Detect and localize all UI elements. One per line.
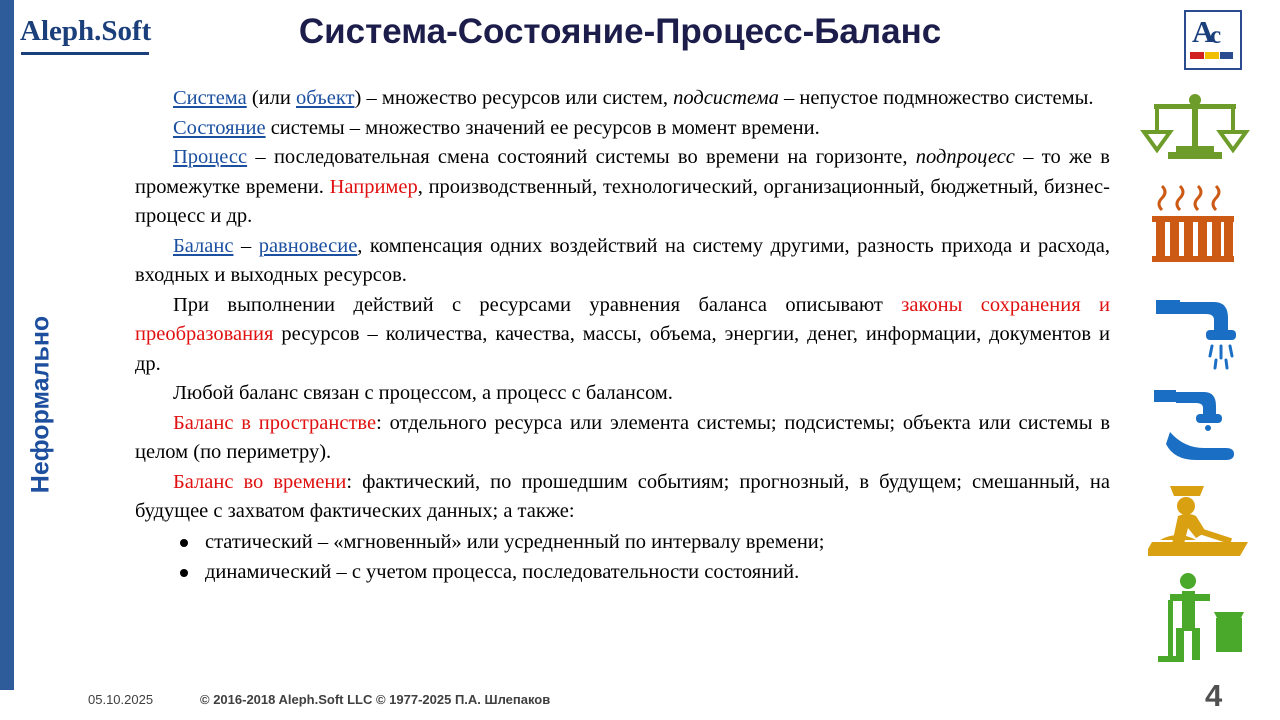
text-run: При выполнении действий с ресурсами урав… [173,294,901,316]
p-sistema: Система (или объект) – множество ресурсо… [135,84,1110,114]
slide-body: Система (или объект) – множество ресурсо… [135,84,1110,587]
list-item-label: статический – «мгновенный» или усредненн… [205,531,824,553]
page-number: 4 [1205,678,1222,714]
text-run: ресурсов – количества, качества, массы, … [135,323,1110,375]
footer-copyright: © 2016-2018 Aleph.Soft LLC © 1977-2025 П… [200,692,550,707]
inline-link[interactable]: Состояние [173,117,266,139]
badge-stripe-blue [1220,52,1233,59]
faucet-hand-icon [1146,384,1251,462]
side-label: Неформально [27,290,56,520]
faucet-water-icon [1146,292,1251,374]
text-run: – непустое подмножество системы. [779,87,1094,109]
radiator-icon [1146,184,1246,264]
list-item-label: динамический – с учетом процесса, послед… [205,561,799,583]
bullet-dot-icon [180,569,188,577]
list-item: статический – «мгновенный» или усредненн… [135,527,1110,557]
p-balans: Баланс – равновесие, компенсация одних в… [135,232,1110,291]
p-lyuboy: Любой баланс связан с процессом, а проце… [135,379,1110,409]
inline-link[interactable]: объект [296,87,355,109]
text-run: подсистема [673,87,779,109]
badge-stripe-red [1190,52,1204,59]
p-prostranstvo: Баланс в пространстве: отдельного ресурс… [135,409,1110,468]
p-zakony: При выполнении действий с ресурсами урав… [135,291,1110,380]
p-process: Процесс – последовательная смена состоян… [135,143,1110,232]
p-sostoyanie: Состояние системы – множество значений е… [135,114,1110,144]
text-run: (или [247,87,296,109]
text-run: Баланс в пространстве [173,412,376,434]
footer-date: 05.10.2025 [88,692,153,707]
badge-stripe-yellow [1205,52,1219,59]
text-run: Баланс во времени [173,471,346,493]
person-recycling-icon [1152,572,1252,664]
inline-link[interactable]: Система [173,87,247,109]
slide: Aleph.Soft Система-Состояние-Процесс-Бал… [0,0,1280,720]
text-run: Например [330,176,418,198]
badge-letter-c: c [1210,22,1221,50]
bullet-dot-icon [180,539,188,547]
p-vremya: Баланс во времени: фактический, по проше… [135,468,1110,527]
text-run: Любой баланс связан с процессом, а проце… [173,382,673,404]
bullet-list: статический – «мгновенный» или усредненн… [135,527,1110,587]
text-run: – последовательная смена состояний систе… [247,146,916,168]
page-title: Система-Состояние-Процесс-Баланс [170,12,1070,52]
left-accent-bar [0,0,14,690]
text-run: подпроцесс [916,146,1015,168]
paragraph-list: Система (или объект) – множество ресурсо… [135,84,1110,527]
inline-link[interactable]: Баланс [173,235,233,257]
logo-text: Aleph.Soft [20,14,160,48]
inline-link[interactable]: равновесие [259,235,358,257]
inline-link[interactable]: Процесс [173,146,247,168]
icon-column [1130,92,1270,672]
roadworks-icon [1148,482,1253,562]
scales-icon [1140,92,1250,164]
text-run: – [233,235,258,257]
text-run: ) – множество ресурсов или систем, [355,87,674,109]
aleph-soft-badge-icon: A c [1180,8,1244,72]
aleph-soft-logo: Aleph.Soft [20,14,160,58]
list-item: динамический – с учетом процесса, послед… [135,557,1110,587]
text-run: системы – множество значений ее ресурсов… [266,117,820,139]
logo-underline [21,52,149,55]
